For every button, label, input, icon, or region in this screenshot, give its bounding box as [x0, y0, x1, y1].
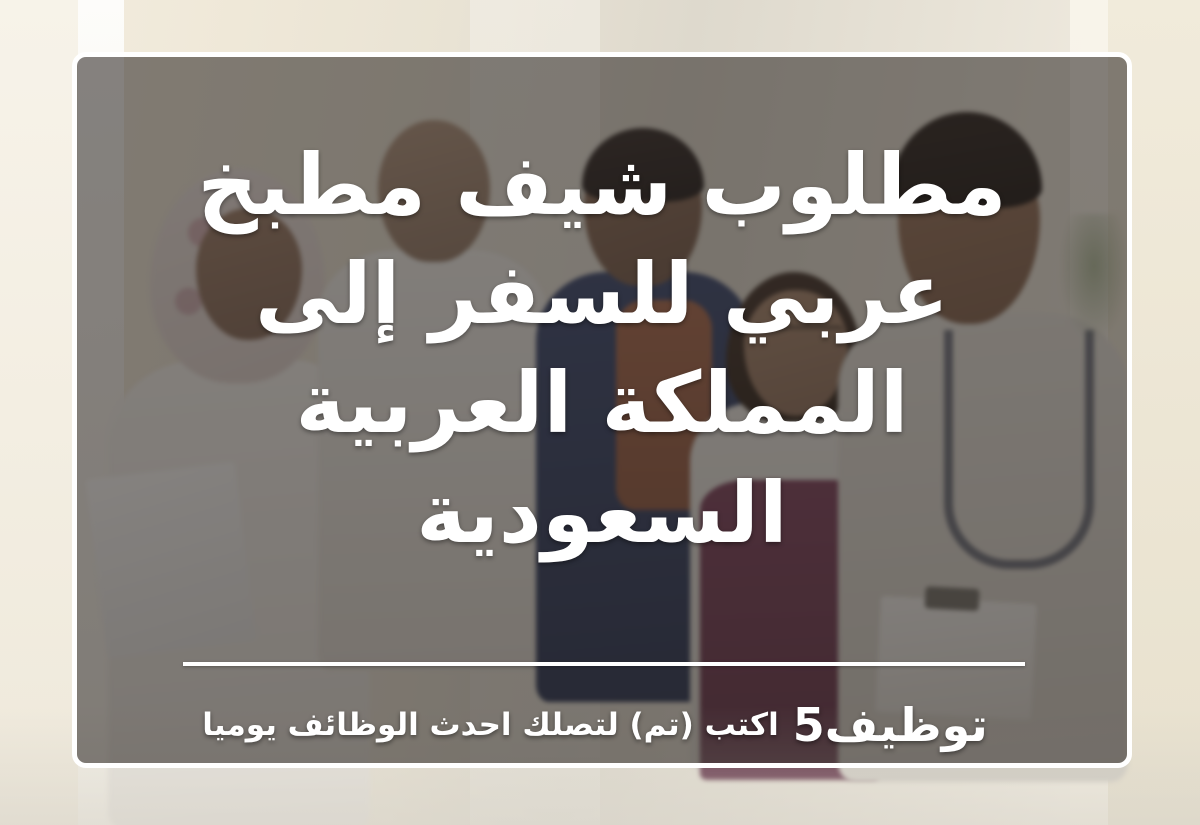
- headline-line-2: عربي للسفر إلى: [162, 240, 1042, 349]
- headline-line-3: المملكة العربية: [162, 349, 1042, 458]
- horizontal-divider: [183, 662, 1025, 666]
- banner-image: مطلوب شيف مطبخ عربي للسفر إلى المملكة ال…: [0, 0, 1200, 825]
- content-frame: مطلوب شيف مطبخ عربي للسفر إلى المملكة ال…: [72, 52, 1132, 768]
- headline-text: مطلوب شيف مطبخ عربي للسفر إلى المملكة ال…: [162, 131, 1042, 568]
- footer-tagline: اكتب (تم) لتصلك احدث الوظائف يوميا: [202, 710, 778, 741]
- headline-line-4: السعودية: [162, 459, 1042, 568]
- footer-bar: توظيف5 اكتب (تم) لتصلك احدث الوظائف يومي…: [77, 685, 1127, 765]
- brand-logo-text: توظيف5: [793, 702, 988, 748]
- wall-panel: [0, 0, 78, 825]
- headline-line-1: مطلوب شيف مطبخ: [162, 131, 1042, 240]
- headline-container: مطلوب شيف مطبخ عربي للسفر إلى المملكة ال…: [77, 57, 1127, 662]
